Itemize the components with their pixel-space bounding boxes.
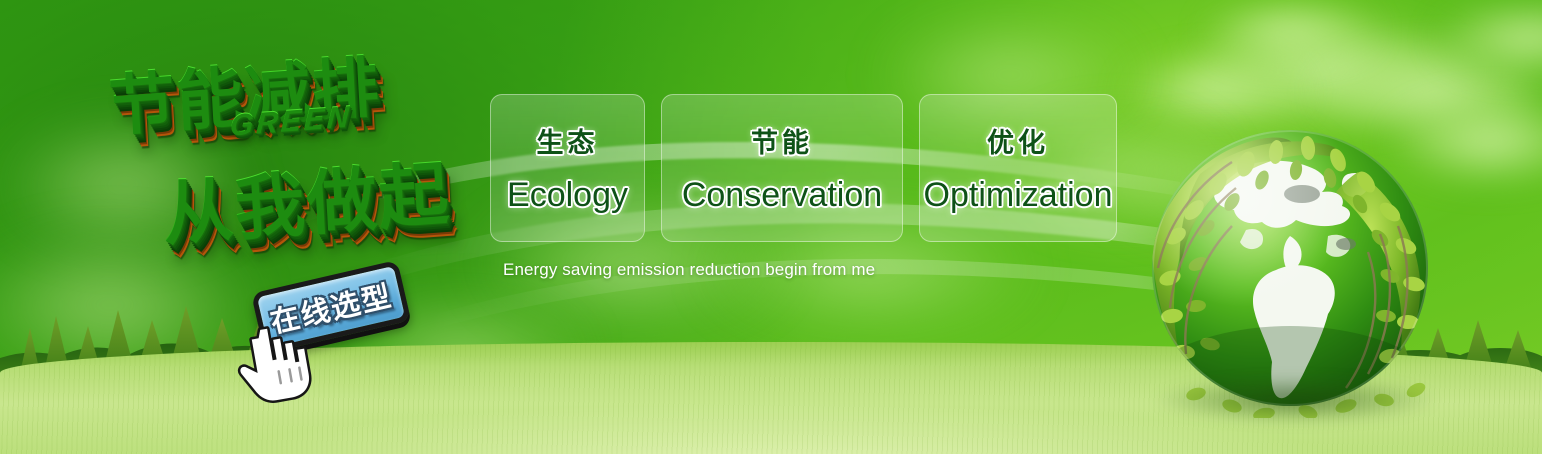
feature-card-ecology[interactable]: 生态 Ecology <box>490 94 645 242</box>
banner-tagline: Energy saving emission reduction begin f… <box>503 260 875 280</box>
headline-line-2: 从我做起 <box>160 137 453 259</box>
feature-card-title-en: Ecology <box>507 176 628 215</box>
feature-card-optimization[interactable]: 优化 Optimization <box>919 94 1117 242</box>
globe-shadow <box>1152 376 1438 424</box>
leafy-green-globe-icon <box>1140 118 1440 418</box>
feature-card-title-cn: 优化 <box>987 121 1049 160</box>
feature-card-title-en: Conservation <box>682 176 882 215</box>
feature-card-conservation[interactable]: 节能 Conservation <box>661 94 903 242</box>
feature-card-title-cn: 生态 <box>537 121 599 160</box>
feature-card-title-cn: 节能 <box>751 121 813 160</box>
eco-promo-banner: 节能减排 GREEN 从我做起 在线选型 生态 Ecology 节能 Conse… <box>0 0 1542 454</box>
feature-card-title-en: Optimization <box>924 176 1113 215</box>
headline-3d: 节能减排 GREEN 从我做起 <box>98 30 490 281</box>
